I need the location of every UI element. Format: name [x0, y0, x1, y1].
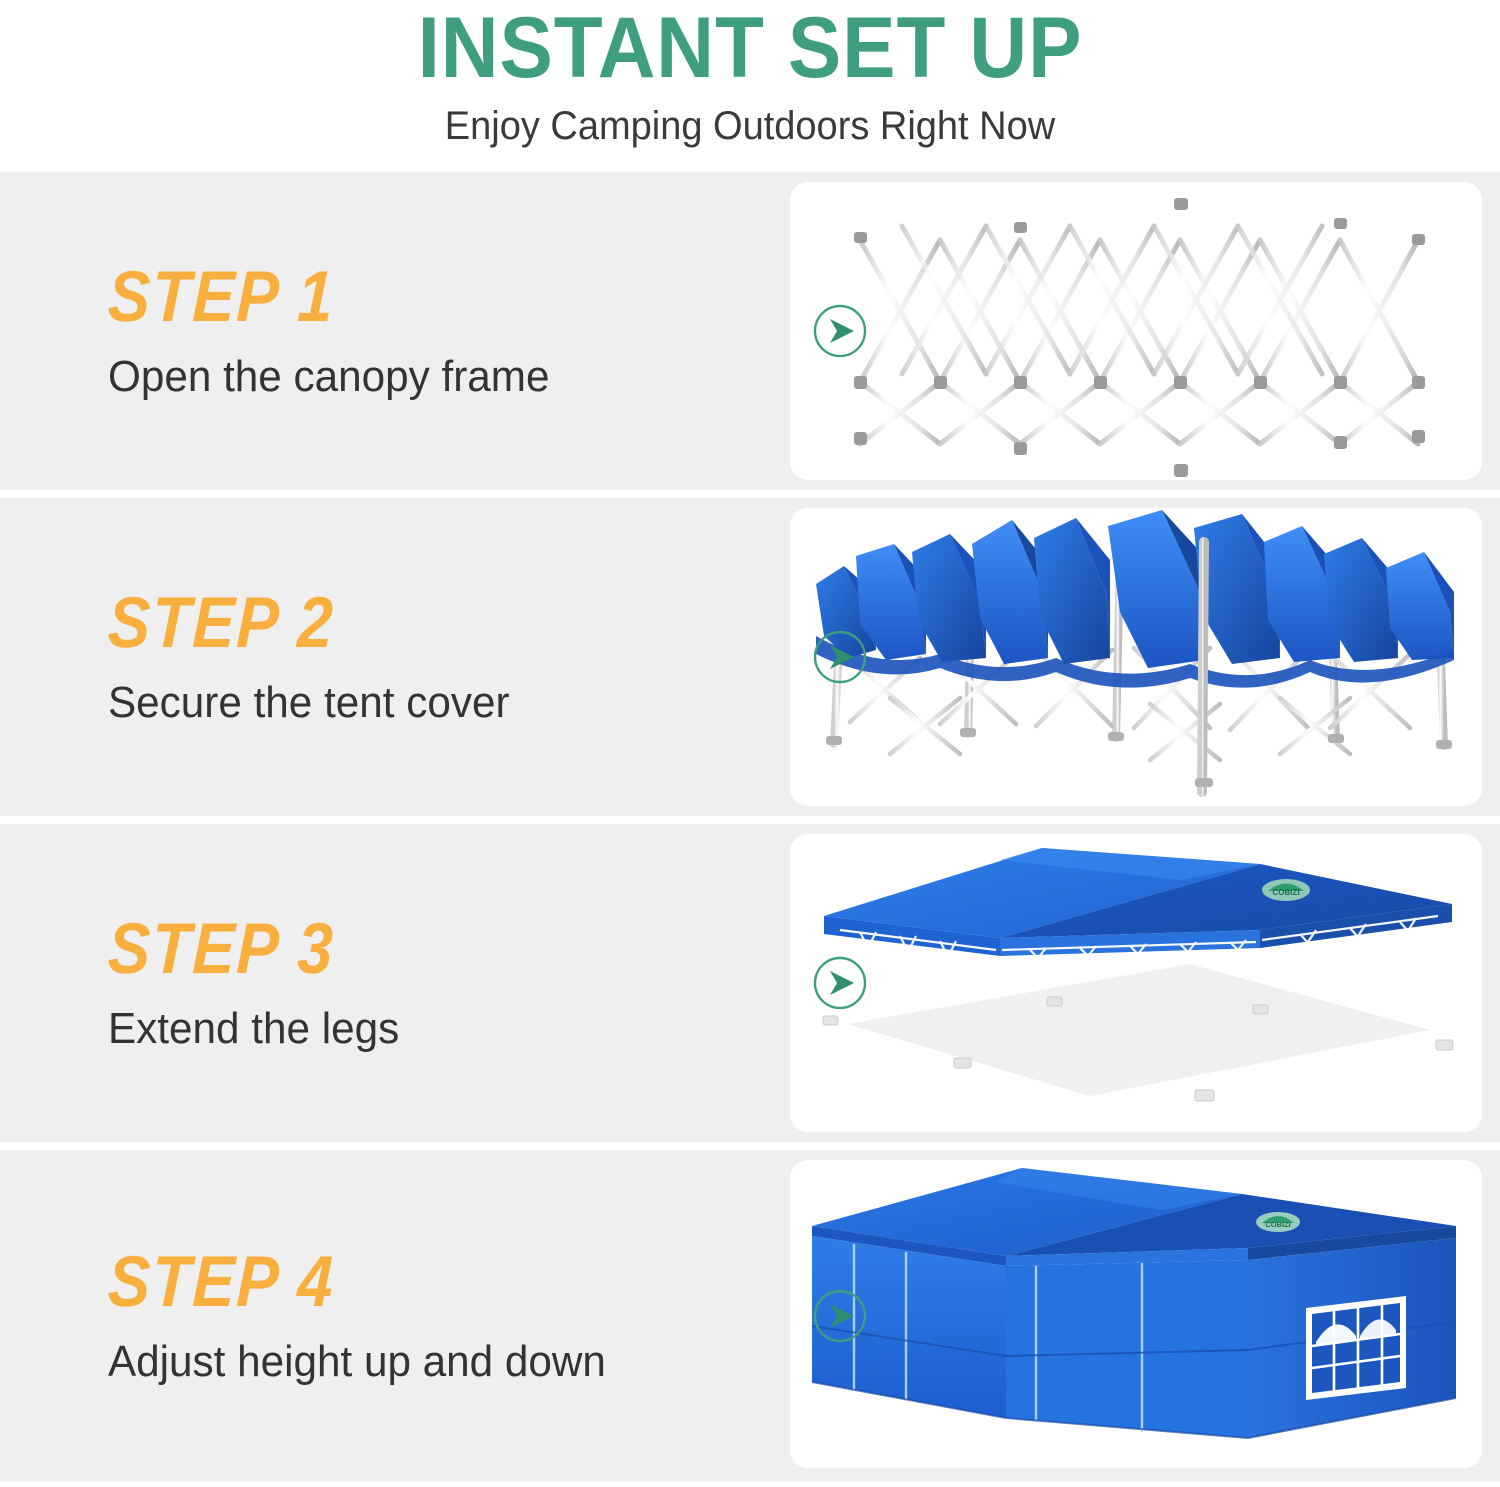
- step-text-block-3: STEP 3 Extend the legs: [108, 910, 728, 1056]
- step-image-card-1: [790, 182, 1482, 480]
- step-label-4: STEP 4: [107, 1243, 655, 1321]
- brand-logo-icon: COBIZI: [1262, 879, 1310, 901]
- page-subtitle: Enjoy Camping Outdoors Right Now: [38, 102, 1463, 150]
- step-arrow-4: [812, 1288, 868, 1344]
- play-arrow-circle-icon: [812, 629, 868, 685]
- infographic-page: INSTANT SET UP Enjoy Camping Outdoors Ri…: [0, 0, 1500, 1487]
- step-description-3: Extend the legs: [108, 1002, 703, 1056]
- page-title: INSTANT SET UP: [53, 2, 1448, 94]
- tent-cover-on-frame-image: [790, 508, 1482, 806]
- play-arrow-circle-icon: [812, 1288, 868, 1344]
- step-text-block-2: STEP 2 Secure the tent cover: [108, 584, 728, 730]
- step-row-4: STEP 4 Adjust height up and down: [0, 1150, 1500, 1482]
- step-arrow-2: [812, 629, 868, 685]
- step-description-2: Secure the tent cover: [108, 676, 703, 730]
- svg-text:COBIZI: COBIZI: [1272, 888, 1299, 897]
- play-arrow-circle-icon: [812, 303, 868, 359]
- step-arrow-1: [812, 303, 868, 359]
- canopy-with-sidewalls-image: COBIZI: [790, 1160, 1482, 1468]
- step-label-2: STEP 2: [107, 584, 655, 662]
- step-label-1: STEP 1: [107, 258, 655, 336]
- window-panel-icon: [1306, 1296, 1406, 1400]
- step-row-3: STEP 3 Extend the legs: [0, 824, 1500, 1142]
- step-image-card-3: COBIZI: [790, 834, 1482, 1132]
- step-description-4: Adjust height up and down: [108, 1335, 703, 1389]
- canopy-legs-extended-image: COBIZI: [790, 834, 1482, 1132]
- step-image-card-4: COBIZI: [790, 1160, 1482, 1468]
- page-header: INSTANT SET UP Enjoy Camping Outdoors Ri…: [0, 0, 1500, 172]
- svg-text:COBIZI: COBIZI: [1265, 1220, 1290, 1229]
- play-arrow-circle-icon: [812, 955, 868, 1011]
- step-row-1: STEP 1 Open the canopy frame: [0, 172, 1500, 490]
- step-description-1: Open the canopy frame: [108, 350, 703, 404]
- step-image-card-2: [790, 508, 1482, 806]
- step-text-block-1: STEP 1 Open the canopy frame: [108, 258, 728, 404]
- step-text-block-4: STEP 4 Adjust height up and down: [108, 1243, 728, 1389]
- step-arrow-3: [812, 955, 868, 1011]
- brand-logo-icon: COBIZI: [1256, 1212, 1300, 1232]
- canopy-frame-folded-image: [790, 182, 1482, 480]
- step-row-2: STEP 2 Secure the tent cover: [0, 498, 1500, 816]
- step-label-3: STEP 3: [107, 910, 655, 988]
